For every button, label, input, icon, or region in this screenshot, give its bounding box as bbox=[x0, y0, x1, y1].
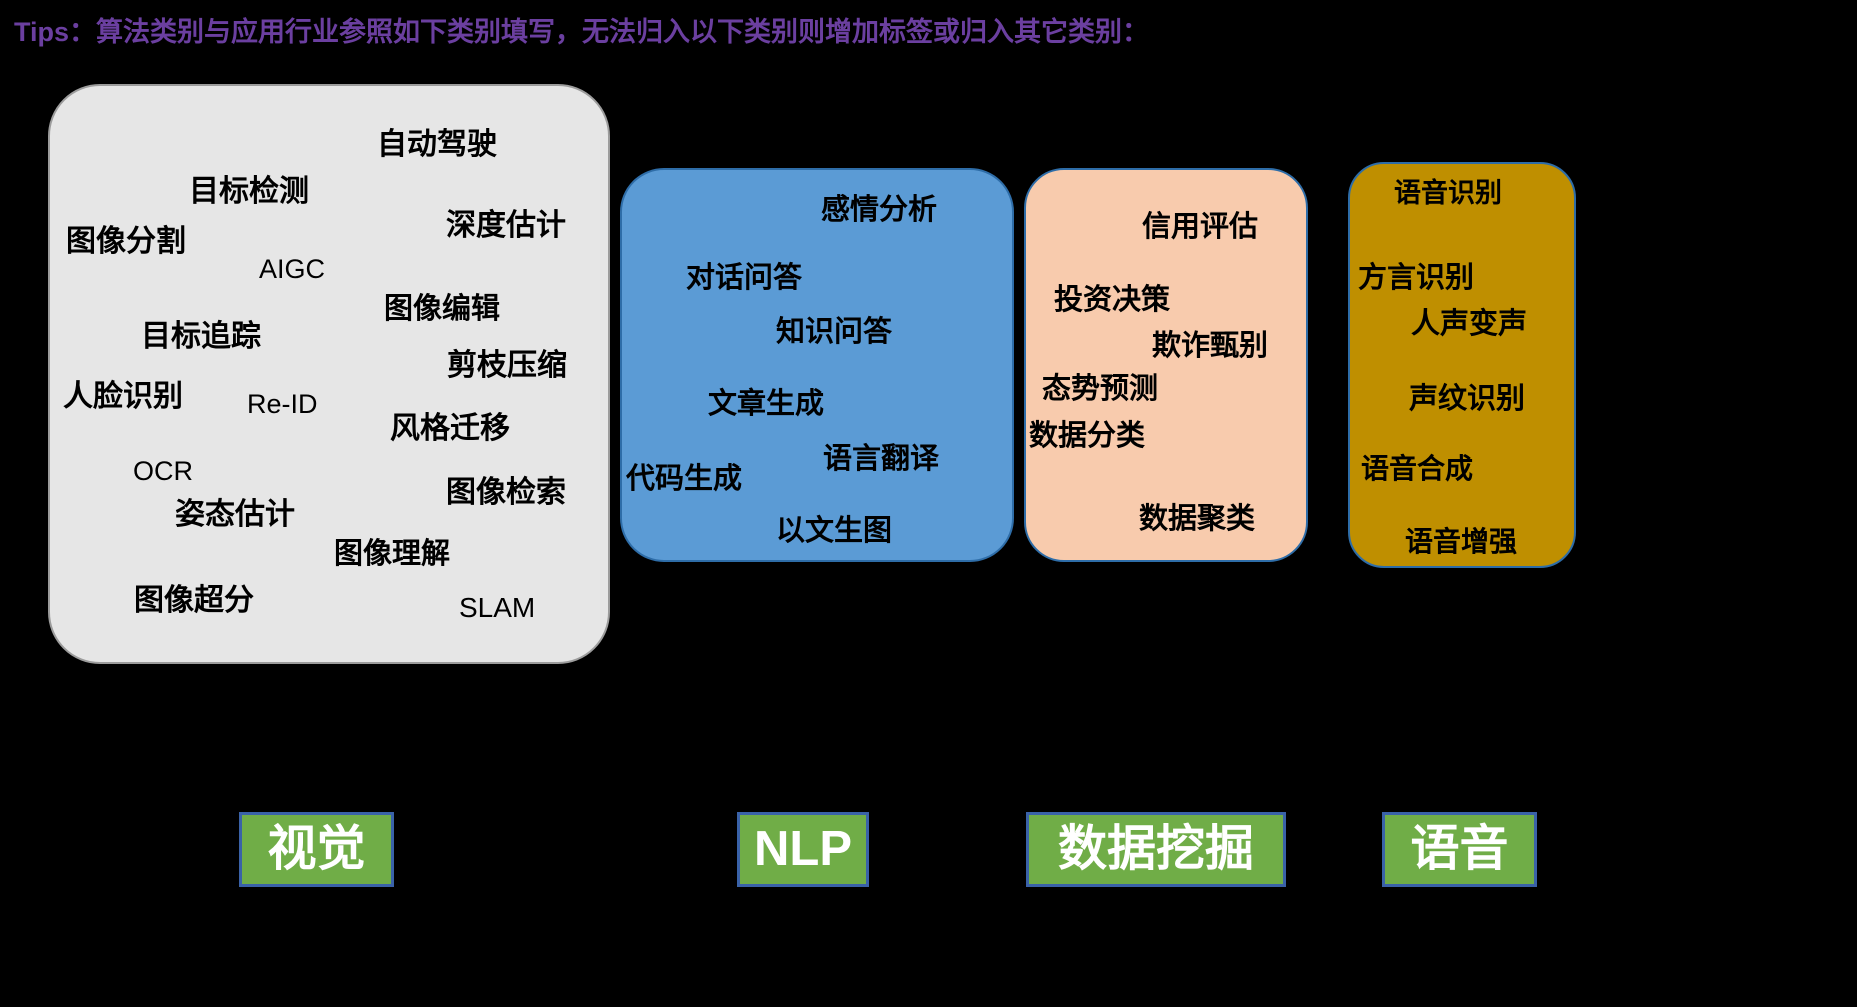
panel-nlp: 感情分析对话问答知识问答文章生成语言翻译代码生成以文生图 bbox=[620, 168, 1014, 562]
tag-item: 语言翻译 bbox=[823, 445, 939, 474]
tag-item: 态势预测 bbox=[1042, 375, 1158, 404]
tag-item: 知识问答 bbox=[776, 318, 892, 347]
tag-item: 文章生成 bbox=[708, 390, 824, 419]
panel-nlp-tags: 感情分析对话问答知识问答文章生成语言翻译代码生成以文生图 bbox=[622, 170, 1012, 560]
tag-item: 剪枝压缩 bbox=[447, 351, 567, 381]
tag-item: 图像检索 bbox=[446, 478, 566, 508]
tag-item: 图像分割 bbox=[66, 227, 186, 257]
tag-item: 对话问答 bbox=[686, 264, 802, 293]
category-button-nlp[interactable]: NLP bbox=[737, 812, 869, 887]
tag-item: 代码生成 bbox=[626, 465, 742, 494]
panel-speech-tags: 语音识别方言识别人声变声声纹识别语音合成语音增强 bbox=[1350, 164, 1574, 566]
tag-item: 投资决策 bbox=[1054, 286, 1170, 315]
tag-item: 感情分析 bbox=[821, 196, 937, 225]
tag-item: AIGC bbox=[259, 256, 325, 283]
tag-item: 图像理解 bbox=[334, 540, 450, 569]
category-button-speech[interactable]: 语音 bbox=[1382, 812, 1537, 887]
tag-item: 以文生图 bbox=[776, 517, 892, 546]
tag-item: 风格迁移 bbox=[390, 414, 510, 444]
tag-item: 方言识别 bbox=[1358, 264, 1474, 293]
tag-item: 数据聚类 bbox=[1139, 505, 1255, 534]
tag-item: OCR bbox=[133, 458, 193, 485]
panel-datamining-tags: 信用评估投资决策欺诈甄别态势预测数据分类数据聚类 bbox=[1026, 170, 1306, 560]
tag-item: 语音增强 bbox=[1405, 528, 1517, 556]
tag-item: SLAM bbox=[459, 594, 535, 622]
tag-item: 目标追踪 bbox=[141, 322, 261, 352]
tag-item: 图像编辑 bbox=[384, 295, 500, 324]
tips-header: Tips：算法类别与应用行业参照如下类别填写，无法归入以下类别则增加标签或归入其… bbox=[14, 10, 1149, 49]
tag-item: 人脸识别 bbox=[63, 382, 183, 412]
panel-datamining: 信用评估投资决策欺诈甄别态势预测数据分类数据聚类 bbox=[1024, 168, 1308, 562]
tag-item: 欺诈甄别 bbox=[1152, 332, 1268, 361]
tag-item: 声纹识别 bbox=[1409, 385, 1525, 414]
tag-item: 姿态估计 bbox=[175, 500, 295, 530]
tag-item: 数据分类 bbox=[1029, 422, 1145, 451]
panel-vision: 自动驾驶目标检测深度估计图像分割AIGC图像编辑目标追踪剪枝压缩人脸识别Re-I… bbox=[48, 84, 610, 664]
tag-item: 图像超分 bbox=[134, 586, 254, 616]
tag-item: 语音合成 bbox=[1361, 455, 1473, 483]
tag-item: 信用评估 bbox=[1142, 213, 1258, 242]
panel-speech: 语音识别方言识别人声变声声纹识别语音合成语音增强 bbox=[1348, 162, 1576, 568]
panel-vision-tags: 自动驾驶目标检测深度估计图像分割AIGC图像编辑目标追踪剪枝压缩人脸识别Re-I… bbox=[50, 86, 608, 662]
category-button-vision[interactable]: 视觉 bbox=[239, 812, 394, 887]
tag-item: 人声变声 bbox=[1411, 310, 1527, 339]
tag-item: 语音识别 bbox=[1394, 180, 1502, 207]
tag-item: Re-ID bbox=[247, 391, 318, 418]
tag-item: 目标检测 bbox=[189, 177, 309, 207]
tag-item: 自动驾驶 bbox=[377, 130, 497, 160]
tag-item: 深度估计 bbox=[446, 211, 566, 241]
category-button-datamining[interactable]: 数据挖掘 bbox=[1026, 812, 1286, 887]
